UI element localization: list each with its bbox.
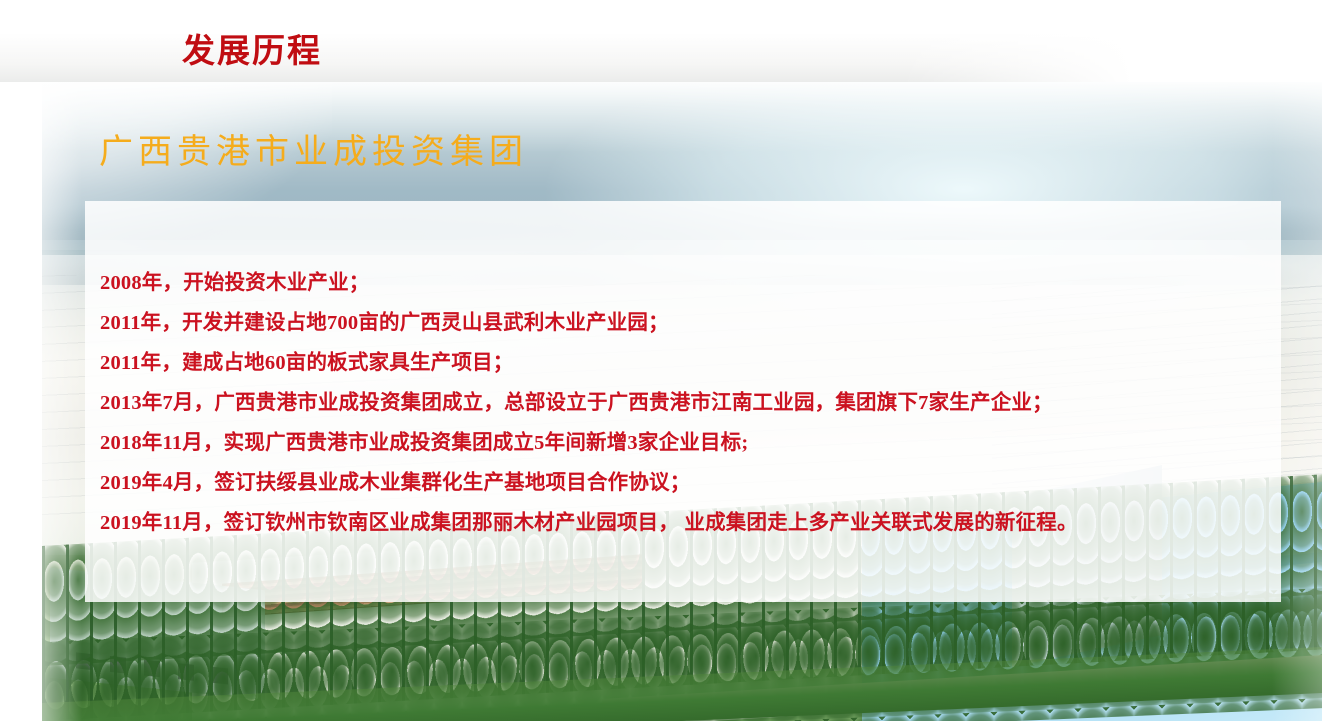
content-panel: 2008年，开始投资木业产业； 2011年，开发并建设占地700亩的广西灵山县武… xyxy=(85,201,1281,602)
company-subtitle: 广西贵港市业成投资集团 xyxy=(99,124,528,173)
left-margin-strip xyxy=(0,0,42,721)
page-title: 发展历程 xyxy=(182,24,322,72)
timeline-item: 2013年7月，广西贵港市业成投资集团成立，总部设立于广西贵港市江南工业园，集团… xyxy=(100,383,1271,423)
timeline-item: 2008年，开始投资木业产业； xyxy=(100,263,1271,303)
timeline-item: 2018年11月，实现广西贵港市业成投资集团成立5年间新增3家企业目标; xyxy=(100,423,1271,463)
timeline-item: 2011年，建成占地60亩的板式家具生产项目； xyxy=(100,343,1271,383)
timeline-item: 2019年4月，签订扶绥县业成木业集群化生产基地项目合作协议； xyxy=(100,463,1271,503)
slide-root: 发展历程 广西贵港市业成投资集团 2008年，开始投资木业产业； 2011年，开… xyxy=(0,0,1322,721)
timeline-list: 2008年，开始投资木业产业； 2011年，开发并建设占地700亩的广西灵山县武… xyxy=(100,263,1271,543)
timeline-item: 2019年11月，签订钦州市钦南区业成集团那丽木材产业园项目， 业成集团走上多产… xyxy=(100,503,1271,543)
timeline-item: 2011年，开发并建设占地700亩的广西灵山县武利木业产业园； xyxy=(100,303,1271,343)
